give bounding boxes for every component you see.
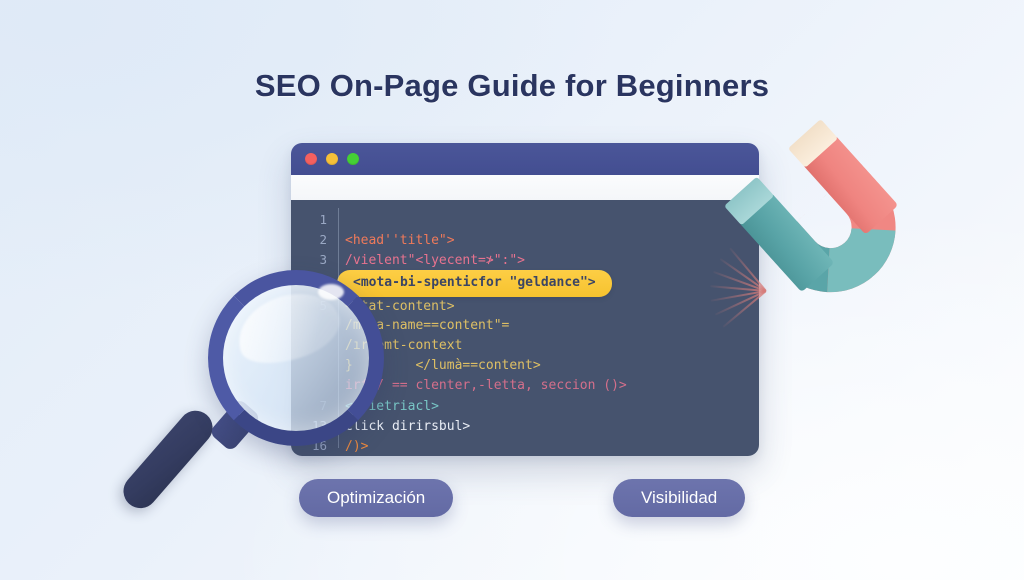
minimize-button-icon[interactable] bbox=[326, 153, 338, 165]
horseshoe-magnet-icon bbox=[726, 132, 898, 302]
maximize-button-icon[interactable] bbox=[347, 153, 359, 165]
magnifier-handle bbox=[116, 404, 219, 515]
tag-optimizacion[interactable]: Optimización bbox=[299, 479, 453, 517]
line-number: 1 bbox=[291, 210, 331, 230]
code-line: 2<head''title"> bbox=[291, 230, 759, 250]
window-titlebar bbox=[291, 143, 759, 175]
tag-visibilidad[interactable]: Visibilidad bbox=[613, 479, 745, 517]
code-line: 1 bbox=[291, 210, 759, 230]
magnifier-lens-glint bbox=[318, 284, 344, 300]
illustration-canvas: SEO On-Page Guide for Beginners 12<head'… bbox=[0, 0, 1024, 580]
magnifying-glass-icon bbox=[168, 262, 398, 512]
line-number: 2 bbox=[291, 230, 331, 250]
tag-visibilidad-label: Visibilidad bbox=[641, 488, 717, 508]
code-line-text: <head''title"> bbox=[331, 231, 455, 251]
tag-optimizacion-label: Optimización bbox=[327, 488, 425, 508]
close-button-icon[interactable] bbox=[305, 153, 317, 165]
editor-toolbar bbox=[291, 175, 759, 200]
page-title: SEO On-Page Guide for Beginners bbox=[0, 68, 1024, 104]
